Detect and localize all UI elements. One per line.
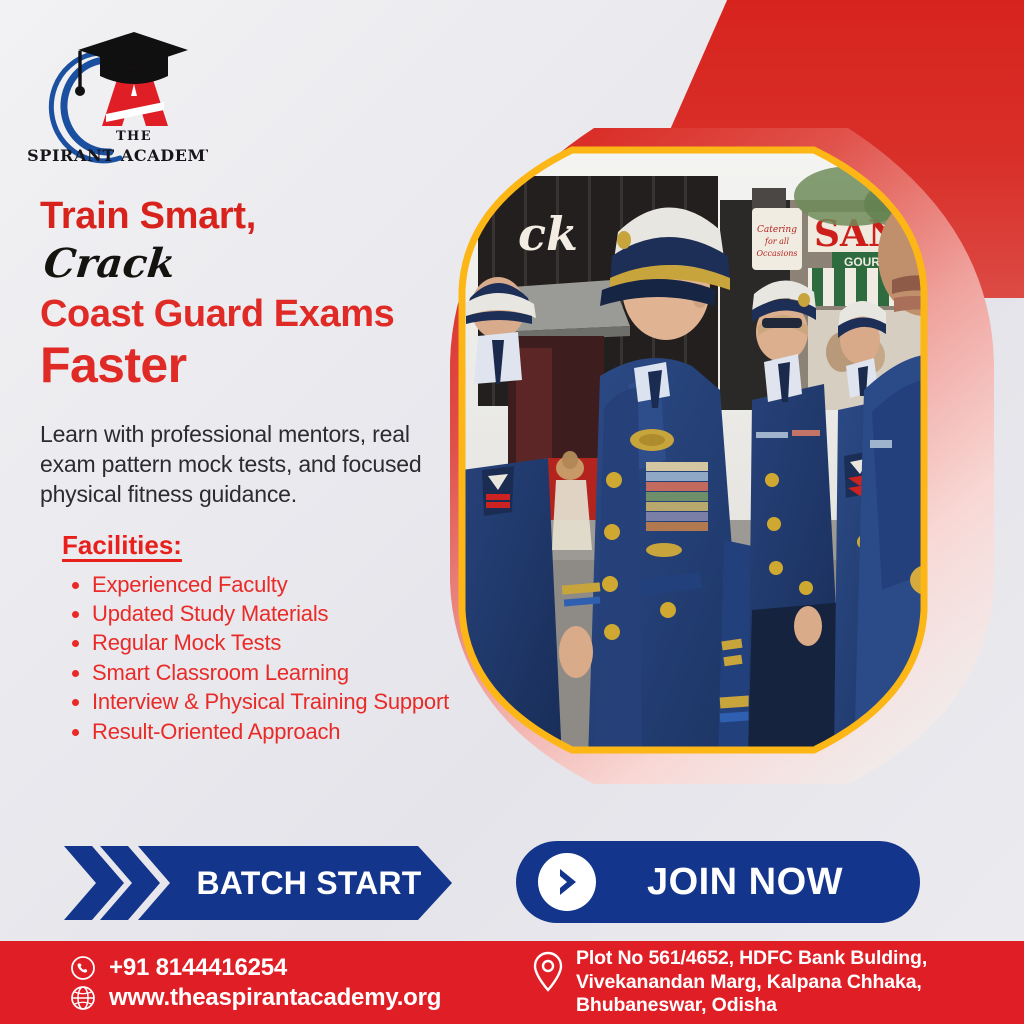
headline-script-word: Crack [41, 239, 177, 289]
address-text: Plot No 561/4652, HDFC Bank Bulding, Viv… [576, 947, 927, 1019]
svg-text:ck: ck [518, 207, 578, 261]
headline-line-1: Train Smart, [40, 196, 460, 237]
address-line-1: Plot No 561/4652, HDFC Bank Bulding, [576, 947, 927, 971]
double-chevron-right-icon [62, 842, 462, 924]
batch-start-button[interactable]: BATCH START [62, 842, 462, 924]
map-pin-icon [532, 951, 566, 993]
globe-icon [68, 985, 98, 1011]
address-line-2: Vivekanandan Marg, Kalpana Chhaka, [576, 971, 927, 995]
academy-logo: THE ASPIRANT ACADEMY [28, 18, 208, 168]
svg-text:Occasions: Occasions [756, 249, 797, 258]
left-content-column: Train Smart, Crack Coast Guard Exams Fas… [40, 196, 460, 747]
list-item: Experienced Faculty [70, 571, 460, 599]
headline-line-3: Coast Guard Exams [40, 293, 460, 336]
list-item: Interview & Physical Training Support [70, 688, 460, 716]
join-now-label: JOIN NOW [596, 861, 920, 904]
svg-text:for all: for all [764, 237, 789, 246]
list-item: Regular Mock Tests [70, 629, 460, 657]
logo-the-text: THE [116, 129, 152, 144]
address-line-3: Bhubaneswar, Odisha [576, 994, 927, 1018]
svg-text:Catering: Catering [757, 225, 797, 235]
phone-number: +91 8144416254 [109, 954, 287, 982]
facilities-list: Experienced Faculty Updated Study Materi… [70, 571, 460, 746]
contact-footer-bar: +91 8144416254 www.theaspirantacademy.or… [0, 941, 1024, 1024]
phone-circle-icon [68, 955, 98, 981]
footer-contact-block: +91 8144416254 www.theaspirantacademy.or… [68, 952, 520, 1014]
list-item: Result-Oriented Approach [70, 718, 460, 746]
list-item: Smart Classroom Learning [70, 659, 460, 687]
chevron-right-circle-icon [538, 853, 596, 911]
body-paragraph: Learn with professional mentors, real ex… [40, 419, 440, 510]
footer-address-block: Plot No 561/4652, HDFC Bank Bulding, Viv… [532, 947, 927, 1019]
facilities-heading: Facilities: [62, 530, 182, 561]
headline-line-4: Faster [40, 338, 460, 393]
logo-name-text: ASPIRANT ACADEMY [28, 146, 208, 165]
phone-row[interactable]: +91 8144416254 [68, 954, 520, 982]
poster-canvas: THE ASPIRANT ACADEMY Train Smart, Crack … [0, 0, 1024, 1024]
coast-guard-officers-photo: ck Catering for all Occasions [452, 140, 934, 760]
list-item: Updated Study Materials [70, 600, 460, 628]
join-now-button[interactable]: JOIN NOW [516, 841, 920, 923]
website-url: www.theaspirantacademy.org [109, 984, 441, 1012]
website-row[interactable]: www.theaspirantacademy.org [68, 984, 520, 1012]
